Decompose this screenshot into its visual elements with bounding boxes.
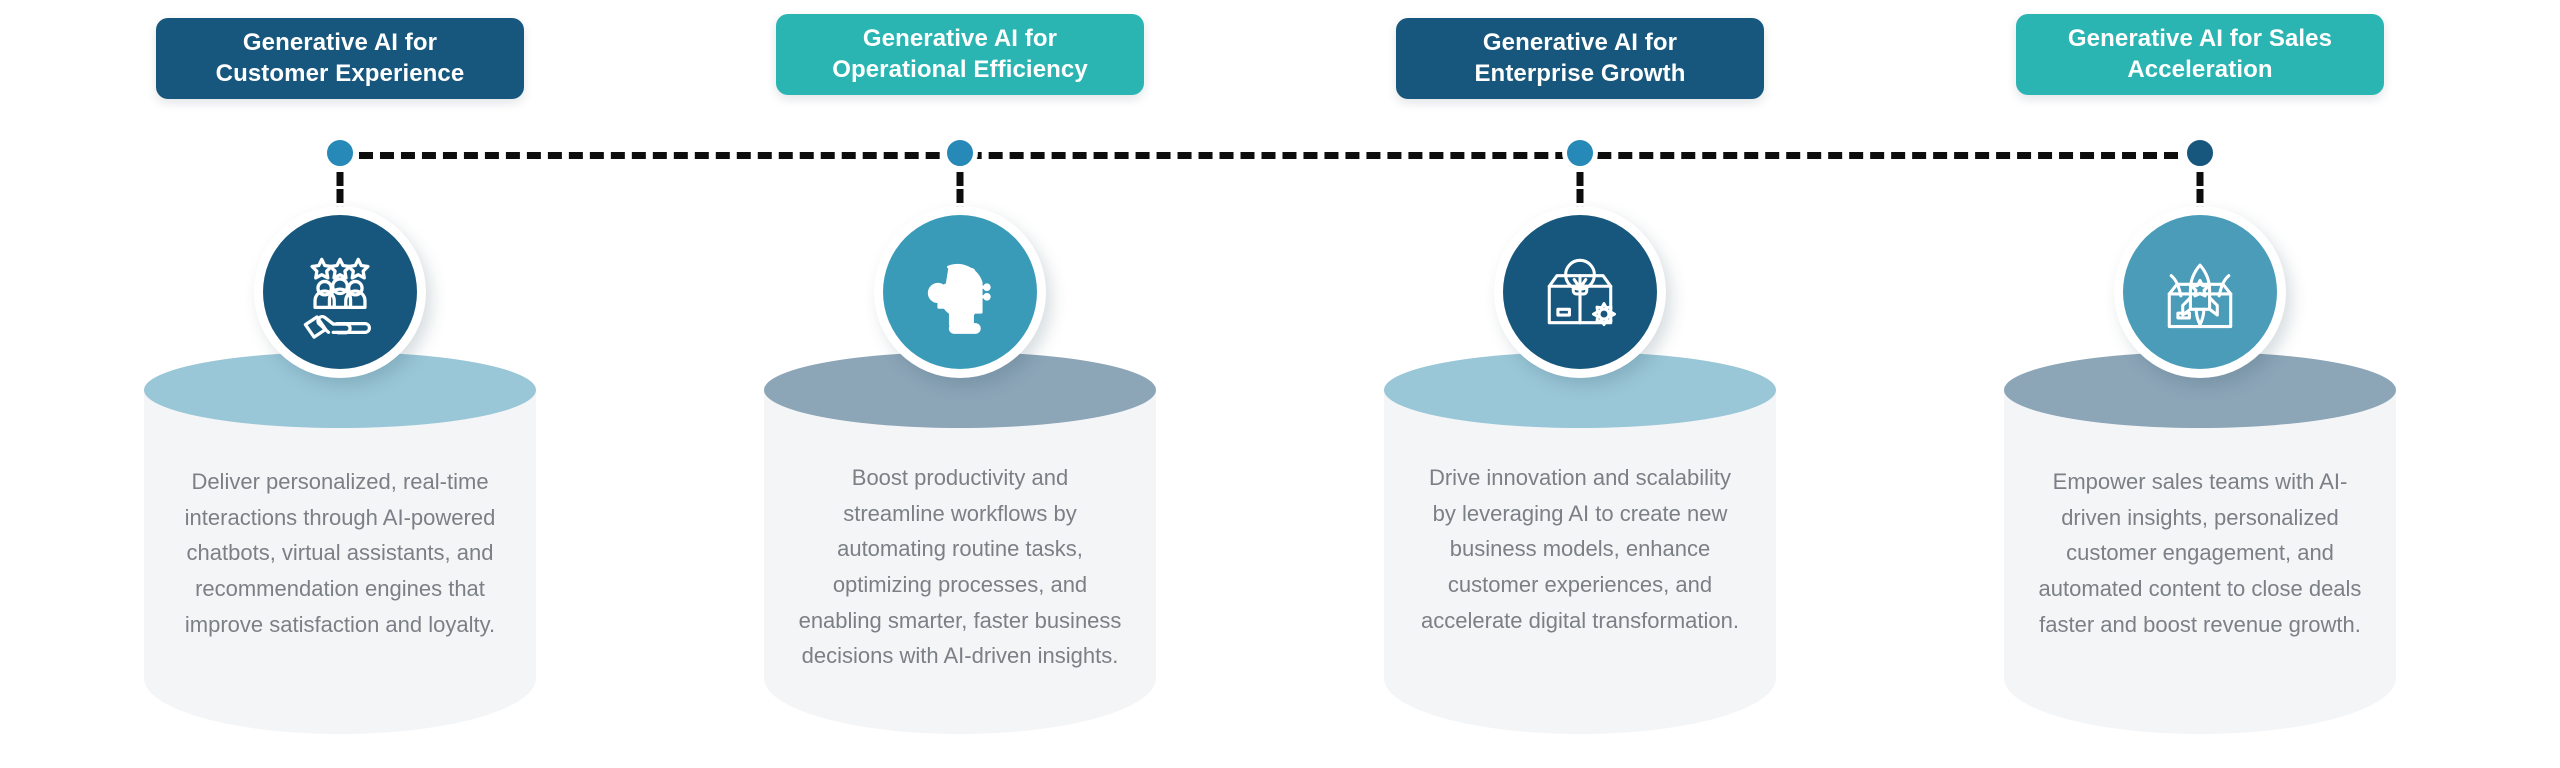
node-dot-sales-acceleration[interactable] bbox=[2183, 136, 2217, 170]
cylinder-sales-acceleration: Empower sales teams with AI-driven insig… bbox=[2004, 352, 2396, 734]
icon-badge-enterprise-growth[interactable] bbox=[1494, 206, 1666, 378]
icon-badge-sales-acceleration[interactable] bbox=[2114, 206, 2286, 378]
column-enterprise-growth: Generative AI for Enterprise Growth bbox=[1280, 0, 1880, 768]
header-line-1: Generative AI for bbox=[1474, 28, 1685, 59]
cylinder-customer-experience: Deliver personalized, real-time interact… bbox=[144, 352, 536, 734]
header-line-1: Generative AI for Sales bbox=[2068, 24, 2332, 55]
header-line-2: Customer Experience bbox=[216, 59, 465, 90]
infographic-canvas: Generative AI for Customer Experience bbox=[0, 0, 2560, 768]
customer-satisfaction-icon bbox=[292, 244, 388, 340]
description-operational-efficiency: Boost productivity and streamline workfl… bbox=[764, 460, 1156, 674]
cylinder-enterprise-growth: Drive innovation and scalability by leve… bbox=[1384, 352, 1776, 734]
header-line-1: Generative AI for bbox=[832, 24, 1088, 55]
icon-badge-operational-efficiency[interactable] bbox=[874, 206, 1046, 378]
header-line-1: Generative AI for bbox=[216, 28, 465, 59]
node-dot-operational-efficiency[interactable] bbox=[943, 136, 977, 170]
header-card-operational-efficiency[interactable]: Generative AI for Operational Efficiency bbox=[776, 14, 1144, 95]
description-sales-acceleration: Empower sales teams with AI-driven insig… bbox=[2004, 464, 2396, 642]
header-card-customer-experience[interactable]: Generative AI for Customer Experience bbox=[156, 18, 524, 99]
node-dot-customer-experience[interactable] bbox=[323, 136, 357, 170]
cylinder-operational-efficiency: Boost productivity and streamline workfl… bbox=[764, 352, 1156, 734]
header-card-enterprise-growth[interactable]: Generative AI for Enterprise Growth bbox=[1396, 18, 1764, 99]
column-customer-experience: Generative AI for Customer Experience bbox=[40, 0, 640, 768]
rocket-launch-box-icon bbox=[2152, 244, 2248, 340]
ai-head-chip-icon bbox=[912, 244, 1008, 340]
header-line-2: Acceleration bbox=[2068, 55, 2332, 86]
idea-box-gear-icon bbox=[1532, 244, 1628, 340]
description-enterprise-growth: Drive innovation and scalability by leve… bbox=[1384, 460, 1776, 638]
column-sales-acceleration: Generative AI for Sales Acceleration bbox=[1900, 0, 2500, 768]
header-line-2: Operational Efficiency bbox=[832, 55, 1088, 86]
column-operational-efficiency: Generative AI for Operational Efficiency bbox=[660, 0, 1260, 768]
description-customer-experience: Deliver personalized, real-time interact… bbox=[144, 464, 536, 642]
icon-badge-customer-experience[interactable] bbox=[254, 206, 426, 378]
header-card-sales-acceleration[interactable]: Generative AI for Sales Acceleration bbox=[2016, 14, 2384, 95]
node-dot-enterprise-growth[interactable] bbox=[1563, 136, 1597, 170]
header-line-2: Enterprise Growth bbox=[1474, 59, 1685, 90]
